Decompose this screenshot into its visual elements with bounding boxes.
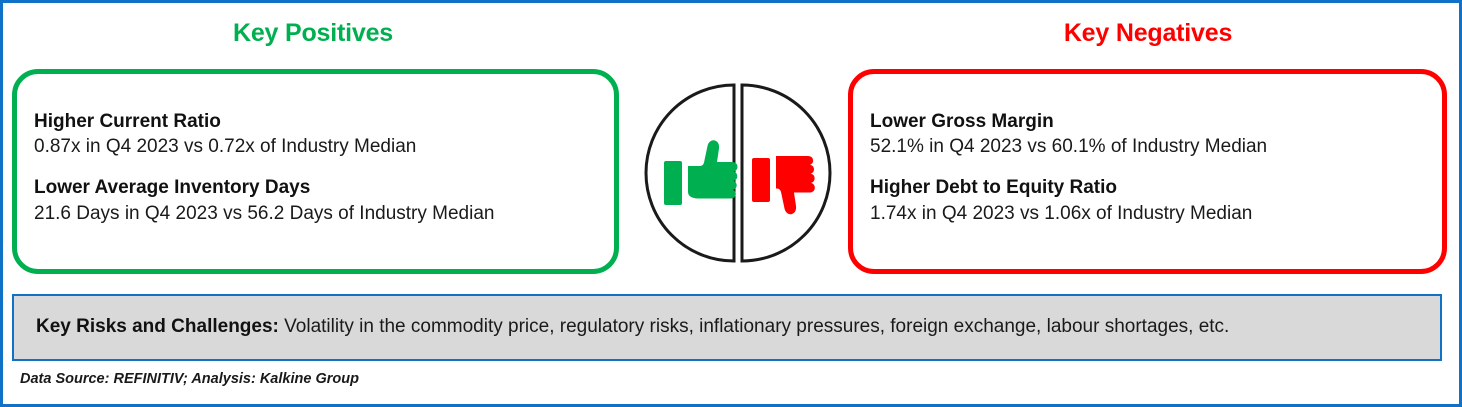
data-source-note: Data Source: REFINITIV; Analysis: Kalkin… xyxy=(20,371,359,387)
key-negatives-panel: Lower Gross Margin 52.1% in Q4 2023 vs 6… xyxy=(848,69,1447,274)
key-negatives-list: Lower Gross Margin 52.1% in Q4 2023 vs 6… xyxy=(870,110,1432,226)
list-item: Higher Debt to Equity Ratio 1.74x in Q4 … xyxy=(870,176,1432,225)
summary-infographic: Key Positives Key Negatives Higher Curre… xyxy=(0,0,1462,407)
thumbs-split-circle-emblem xyxy=(640,78,836,268)
key-risks-text: Key Risks and Challenges: Volatility in … xyxy=(14,315,1229,340)
negative-item-detail: 1.74x in Q4 2023 vs 1.06x of Industry Me… xyxy=(870,201,1432,226)
key-negatives-title: Key Negatives xyxy=(848,19,1448,48)
key-risks-bar: Key Risks and Challenges: Volatility in … xyxy=(12,294,1442,361)
positive-item-heading: Lower Average Inventory Days xyxy=(34,176,604,200)
negative-item-detail: 52.1% in Q4 2023 vs 60.1% of Industry Me… xyxy=(870,134,1432,159)
list-item: Lower Average Inventory Days 21.6 Days i… xyxy=(34,176,604,225)
key-risks-label: Key Risks and Challenges: xyxy=(36,316,279,337)
negative-item-heading: Higher Debt to Equity Ratio xyxy=(870,176,1432,200)
list-item: Lower Gross Margin 52.1% in Q4 2023 vs 6… xyxy=(870,110,1432,159)
positive-item-detail: 21.6 Days in Q4 2023 vs 56.2 Days of Ind… xyxy=(34,201,604,226)
key-positives-list: Higher Current Ratio 0.87x in Q4 2023 vs… xyxy=(34,110,604,226)
key-positives-title: Key Positives xyxy=(3,19,623,48)
negative-item-heading: Lower Gross Margin xyxy=(870,110,1432,134)
list-item: Higher Current Ratio 0.87x in Q4 2023 vs… xyxy=(34,110,604,159)
positive-item-heading: Higher Current Ratio xyxy=(34,110,604,134)
positive-item-detail: 0.87x in Q4 2023 vs 0.72x of Industry Me… xyxy=(34,134,604,159)
key-positives-panel: Higher Current Ratio 0.87x in Q4 2023 vs… xyxy=(12,69,619,274)
key-risks-body: Volatility in the commodity price, regul… xyxy=(279,316,1229,337)
